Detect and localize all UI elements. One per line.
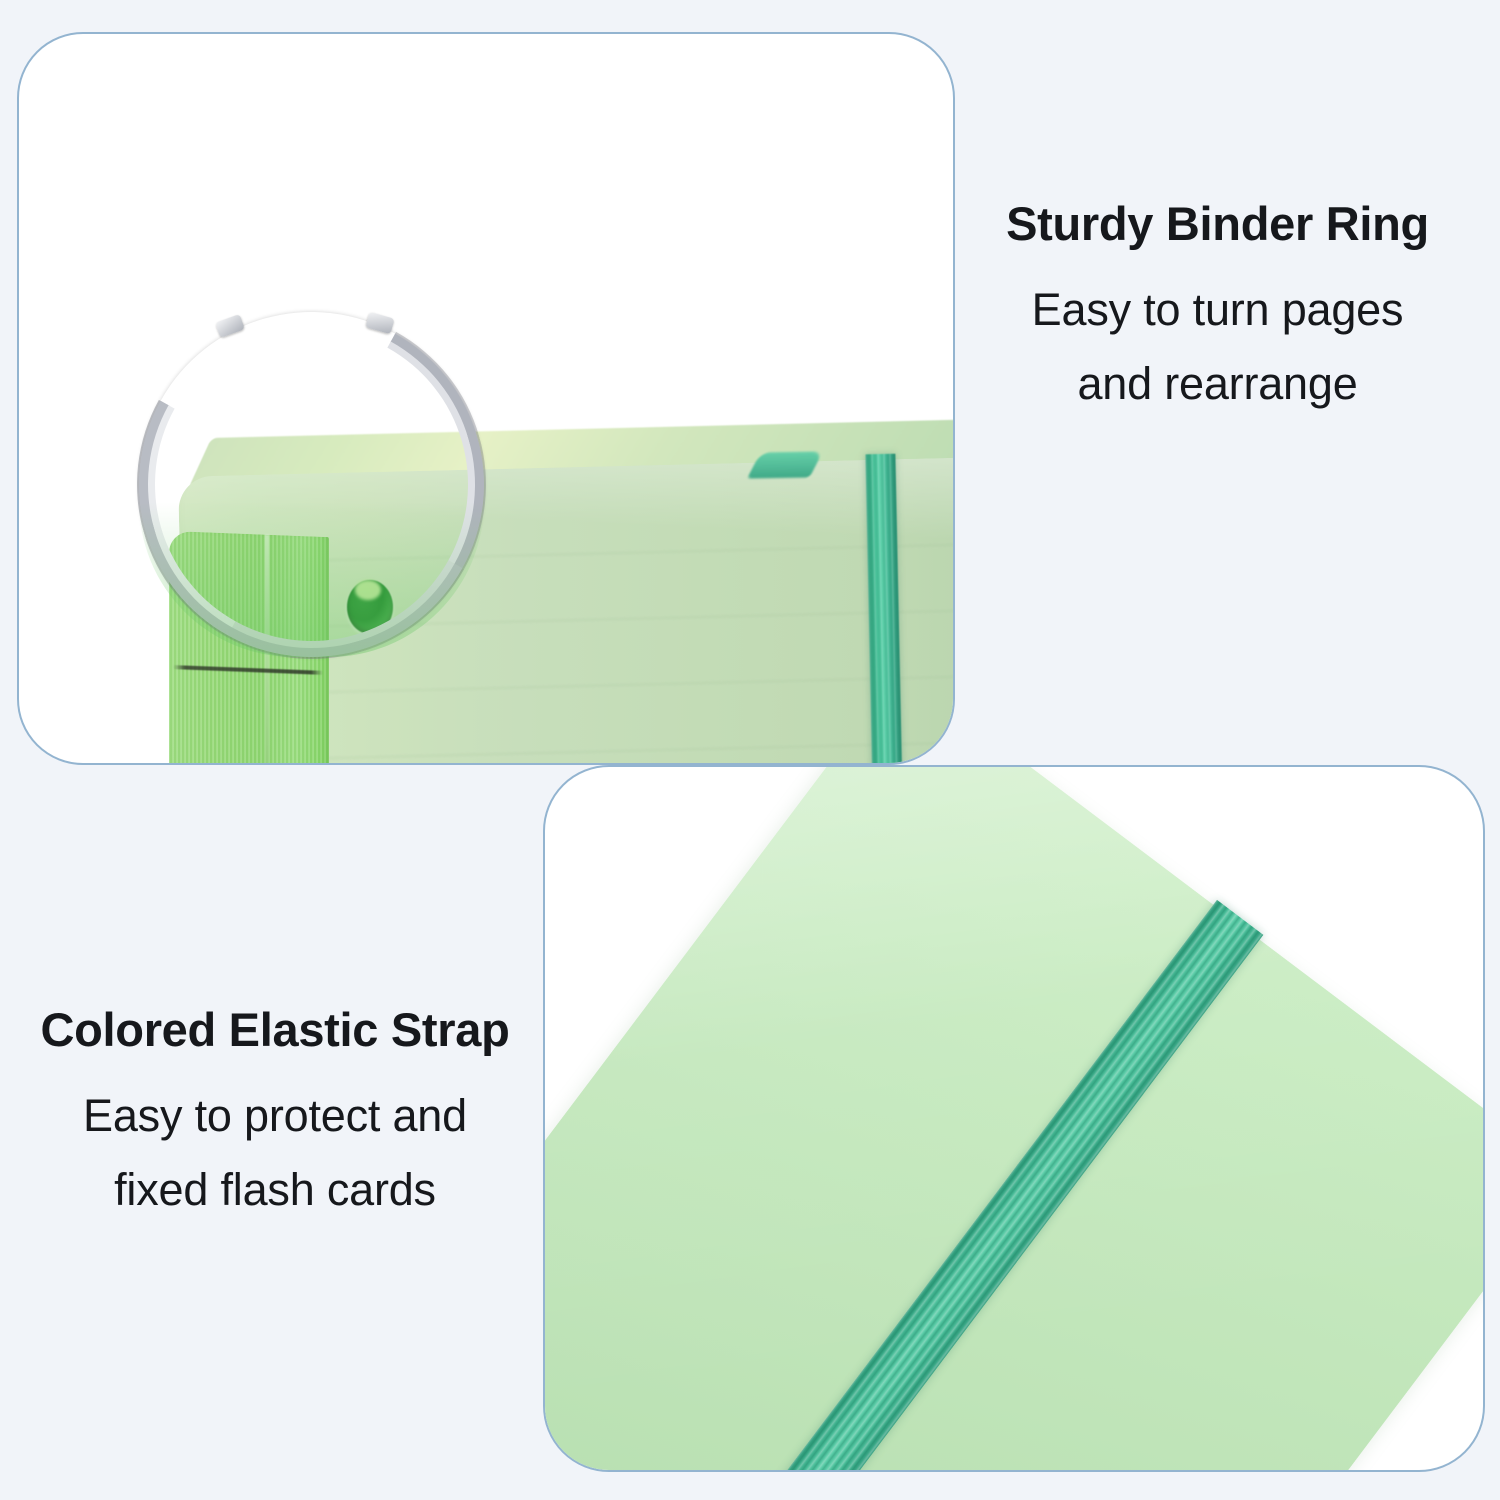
feature-title-elastic-strap: Colored Elastic Strap — [10, 1004, 540, 1057]
feature-panel-elastic-strap — [543, 765, 1485, 1472]
feature-subtitle-line-2: fixed flash cards — [10, 1153, 540, 1228]
feature-subtitle-line-2: and rearrange — [945, 347, 1490, 422]
deck-top-face — [543, 765, 1485, 1472]
binder-ring — [139, 312, 484, 657]
feature-title-binder-ring: Sturdy Binder Ring — [945, 198, 1490, 251]
feature-subtitle-line-1: Easy to protect and — [10, 1079, 540, 1154]
stack-edge-ruled-line — [173, 665, 323, 675]
feature-panel-binder-ring — [17, 32, 955, 765]
binder-ring-highlight — [109, 282, 513, 686]
feature-text-binder-ring: Sturdy Binder Ring Easy to turn pages an… — [945, 198, 1490, 422]
flash-card-deck-tilted — [543, 765, 1485, 1472]
feature-text-elastic-strap: Colored Elastic Strap Easy to protect an… — [10, 1004, 540, 1228]
binder-ring-photo — [19, 34, 953, 763]
feature-subtitle-line-1: Easy to turn pages — [945, 273, 1490, 348]
elastic-strap-photo — [545, 767, 1483, 1470]
